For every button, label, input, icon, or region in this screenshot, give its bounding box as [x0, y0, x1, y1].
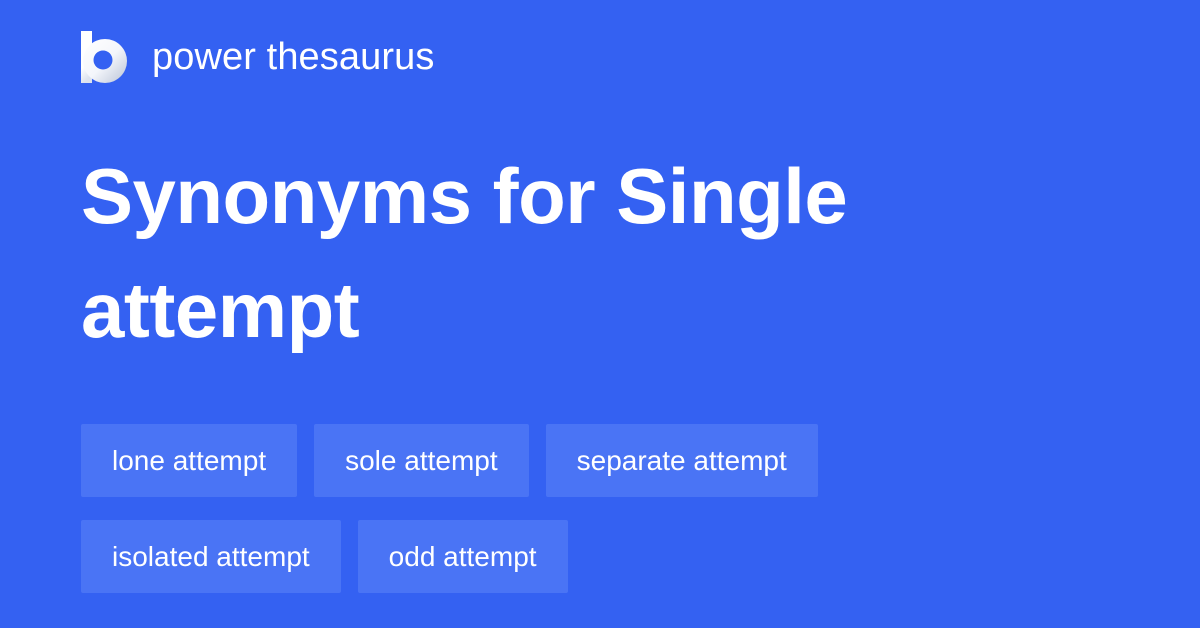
brand-name: power thesaurus	[152, 38, 434, 76]
page-title: Synonyms for Single attempt	[81, 140, 1081, 368]
synonym-chip[interactable]: isolated attempt	[81, 520, 341, 593]
synonym-chip-list: lone attemptsole attemptseparate attempt…	[81, 424, 981, 593]
synonym-chip[interactable]: separate attempt	[546, 424, 818, 497]
synonym-chip-row: lone attemptsole attemptseparate attempt	[81, 424, 981, 497]
brand-header[interactable]: power thesaurus	[81, 30, 434, 84]
synonym-chip[interactable]: sole attempt	[314, 424, 529, 497]
synonym-chip[interactable]: odd attempt	[358, 520, 568, 593]
synonyms-share-card: power thesaurus Synonyms for Single atte…	[0, 0, 1200, 628]
synonym-chip-row: isolated attemptodd attempt	[81, 520, 981, 593]
power-thesaurus-b-logo-icon	[81, 31, 127, 83]
synonym-chip[interactable]: lone attempt	[81, 424, 297, 497]
